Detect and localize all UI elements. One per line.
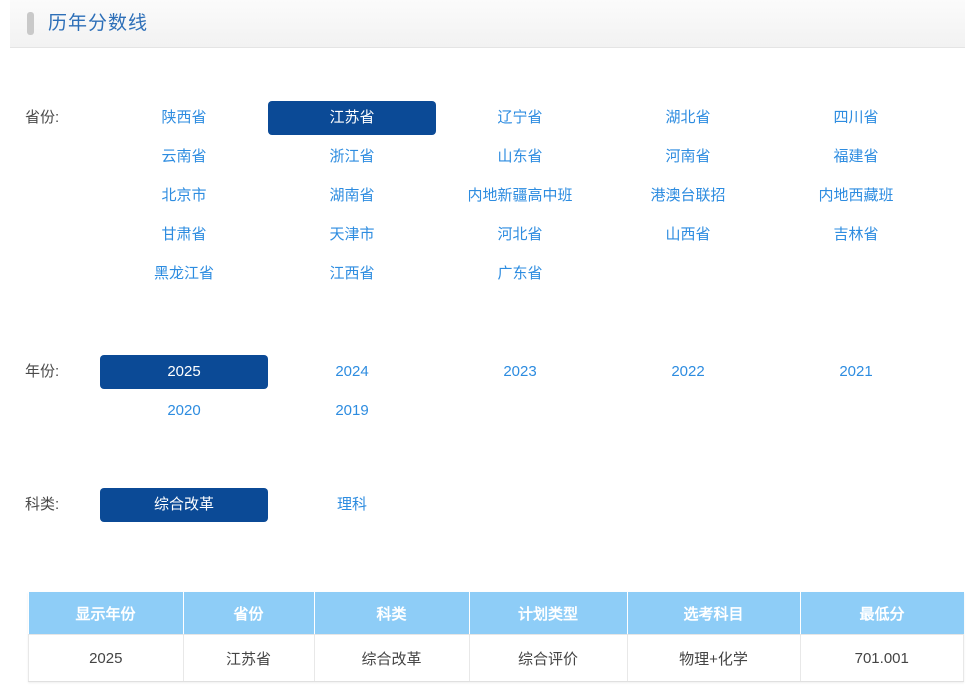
province-option-0[interactable]: 陕西省	[100, 101, 268, 135]
province-option-13[interactable]: 港澳台联招	[604, 179, 772, 213]
year-option-3[interactable]: 2022	[604, 355, 772, 389]
province-option-20[interactable]: 黑龙江省	[100, 257, 268, 291]
category-filter-label: 科类:	[25, 488, 59, 522]
year-option-0[interactable]: 2025	[100, 355, 268, 389]
province-option-1[interactable]: 江苏省	[268, 101, 436, 135]
province-option-9[interactable]: 福建省	[772, 140, 940, 174]
province-option-22[interactable]: 广东省	[436, 257, 604, 291]
year-option-4[interactable]: 2021	[772, 355, 940, 389]
province-option-grid: 陕西省江苏省辽宁省湖北省四川省云南省浙江省山东省河南省福建省北京市湖南省内地新疆…	[100, 101, 945, 296]
year-option-2[interactable]: 2023	[436, 355, 604, 389]
year-option-6[interactable]: 2019	[268, 394, 436, 428]
table-row: 2025江苏省综合改革综合评价物理+化学701.001	[29, 635, 964, 682]
province-filter-label: 省份:	[25, 101, 59, 135]
province-option-4[interactable]: 四川省	[772, 101, 940, 135]
province-option-11[interactable]: 湖南省	[268, 179, 436, 213]
table-column-header-4: 选考科目	[627, 592, 800, 635]
province-option-6[interactable]: 浙江省	[268, 140, 436, 174]
province-option-10[interactable]: 北京市	[100, 179, 268, 213]
table-cell-0-5: 701.001	[800, 635, 964, 682]
table-column-header-0: 显示年份	[29, 592, 184, 635]
category-option-1[interactable]: 理科	[268, 488, 436, 522]
province-option-21[interactable]: 江西省	[268, 257, 436, 291]
table-cell-0-1: 江苏省	[183, 635, 314, 682]
score-table-body: 2025江苏省综合改革综合评价物理+化学701.001	[29, 635, 964, 682]
year-filter-label: 年份:	[25, 355, 59, 389]
province-option-3[interactable]: 湖北省	[604, 101, 772, 135]
year-option-grid: 2025202420232022202120202019	[100, 355, 945, 433]
table-header-row: 显示年份省份科类计划类型选考科目最低分	[29, 592, 964, 635]
table-cell-0-3: 综合评价	[469, 635, 627, 682]
province-option-17[interactable]: 河北省	[436, 218, 604, 252]
year-option-1[interactable]: 2024	[268, 355, 436, 389]
historical-score-line-page: 历年分数线 省份: 陕西省江苏省辽宁省湖北省四川省云南省浙江省山东省河南省福建省…	[0, 0, 975, 686]
province-option-19[interactable]: 吉林省	[772, 218, 940, 252]
score-results-table: 显示年份省份科类计划类型选考科目最低分 2025江苏省综合改革综合评价物理+化学…	[28, 592, 964, 682]
province-option-18[interactable]: 山西省	[604, 218, 772, 252]
category-option-grid: 综合改革理科	[100, 488, 945, 527]
province-option-14[interactable]: 内地西藏班	[772, 179, 940, 213]
province-option-12[interactable]: 内地新疆高中班	[436, 179, 604, 213]
year-option-5[interactable]: 2020	[100, 394, 268, 428]
table-cell-0-0: 2025	[29, 635, 184, 682]
table-cell-0-2: 综合改革	[314, 635, 469, 682]
score-table-head: 显示年份省份科类计划类型选考科目最低分	[29, 592, 964, 635]
table-column-header-3: 计划类型	[469, 592, 627, 635]
panel-header: 历年分数线	[10, 0, 965, 48]
province-option-2[interactable]: 辽宁省	[436, 101, 604, 135]
page-title: 历年分数线	[48, 11, 148, 36]
header-accent-bar	[27, 12, 34, 35]
province-option-5[interactable]: 云南省	[100, 140, 268, 174]
table-cell-0-4: 物理+化学	[627, 635, 800, 682]
province-option-16[interactable]: 天津市	[268, 218, 436, 252]
table-column-header-5: 最低分	[800, 592, 964, 635]
province-option-15[interactable]: 甘肃省	[100, 218, 268, 252]
table-column-header-1: 省份	[183, 592, 314, 635]
category-option-0[interactable]: 综合改革	[100, 488, 268, 522]
province-option-7[interactable]: 山东省	[436, 140, 604, 174]
table-column-header-2: 科类	[314, 592, 469, 635]
province-option-8[interactable]: 河南省	[604, 140, 772, 174]
